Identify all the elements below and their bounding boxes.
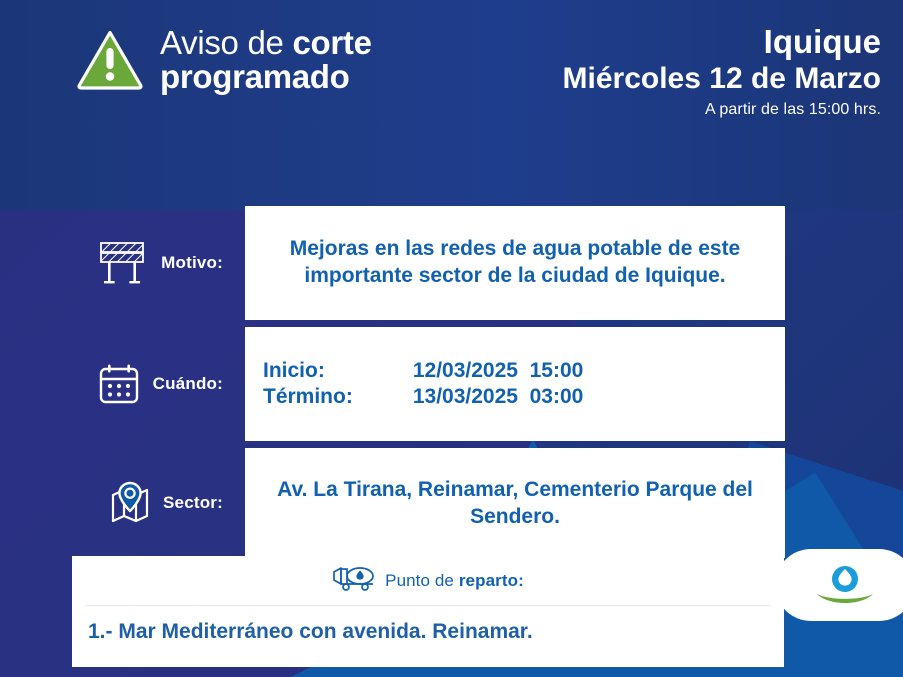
reparto-title-plain: Punto de xyxy=(385,571,459,590)
end-label: Término: xyxy=(263,385,353,409)
outage-start-note: A partir de las 15:00 hrs. xyxy=(563,101,881,119)
cuando-label: Cuándo: xyxy=(153,374,223,394)
sector-label: Sector: xyxy=(163,493,223,513)
company-logo-badge xyxy=(775,549,903,621)
cuando-label-group: Cuándo: xyxy=(0,327,245,441)
reparto-title-bold: reparto: xyxy=(459,571,524,590)
reparto-item-1: 1.- Mar Mediterráneo con avenida. Reinam… xyxy=(72,606,784,644)
map-pin-icon xyxy=(105,481,151,525)
road-barrier-icon xyxy=(95,241,149,285)
warning-triangle-icon xyxy=(76,29,144,91)
brand-line2: programado xyxy=(160,60,372,94)
corte-programado-poster: Aviso de corte programado Iquique Miérco… xyxy=(0,0,903,677)
cuando-value: Inicio: 12/03/2025 15:00 Término: 13/03/… xyxy=(245,327,785,441)
punto-de-reparto-header: Punto de reparto: xyxy=(72,565,784,596)
punto-de-reparto-title: Punto de reparto: xyxy=(385,571,524,591)
brand-text: Aviso de corte programado xyxy=(160,26,372,93)
row-motivo: Motivo: Mejoras en las redes de agua pot… xyxy=(0,206,903,320)
schedule-grid: Inicio: 12/03/2025 15:00 Término: 13/03/… xyxy=(263,359,583,409)
outage-date: Miércoles 12 de Marzo xyxy=(563,61,881,96)
punto-de-reparto-panel: Punto de reparto: 1.- Mar Mediterráneo c… xyxy=(72,556,784,667)
water-truck-icon xyxy=(332,565,376,596)
sector-label-group: Sector: xyxy=(0,448,245,558)
motivo-label: Motivo: xyxy=(161,253,223,273)
end-value: 13/03/2025 03:00 xyxy=(413,385,583,409)
info-rows: Motivo: Mejoras en las redes de agua pot… xyxy=(0,206,903,565)
poster-header: Aviso de corte programado Iquique Miérco… xyxy=(0,0,903,150)
start-label: Inicio: xyxy=(263,359,353,383)
motivo-value: Mejoras en las redes de agua potable de … xyxy=(245,206,785,320)
brand-lockup: Aviso de corte programado xyxy=(76,26,372,93)
start-value: 12/03/2025 15:00 xyxy=(413,359,583,383)
calendar-icon xyxy=(97,362,141,406)
brand-line1-plain: Aviso de xyxy=(160,24,292,61)
motivo-label-group: Motivo: xyxy=(0,206,245,320)
aguas-del-altiplano-logo xyxy=(813,561,877,609)
header-location-date: Iquique Miércoles 12 de Marzo A partir d… xyxy=(563,24,881,119)
row-cuando: Cuándo: Inicio: 12/03/2025 15:00 Término… xyxy=(0,327,903,441)
brand-line1-bold: corte xyxy=(292,24,371,61)
sector-value: Av. La Tirana, Reinamar, Cementerio Parq… xyxy=(245,448,785,558)
city-name: Iquique xyxy=(563,24,881,61)
row-sector: Sector: Av. La Tirana, Reinamar, Cemente… xyxy=(0,448,903,558)
